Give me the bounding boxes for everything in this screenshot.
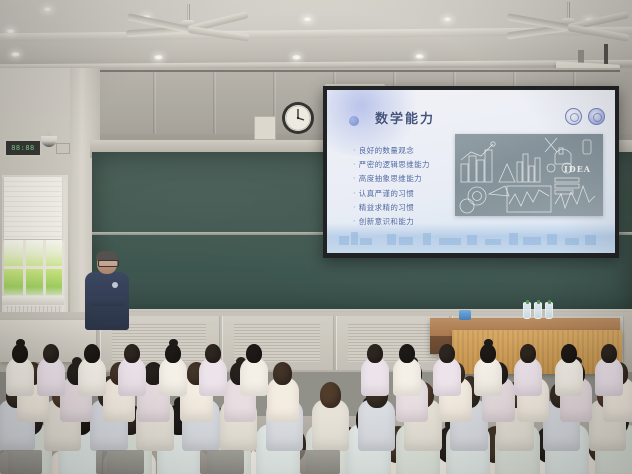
window-mullion [4,266,62,269]
water-bottle [523,302,531,319]
infographic-idea-text: IDEA [564,164,591,174]
presentation-slide: 数学能力 良好的数量观念严密的逻辑思维能力高度抽象思维能力认真严谨的习惯精益求精… [327,90,615,253]
seat-back [300,450,340,474]
digital-clock-display: 88:88 [4,139,42,157]
audience-member-head [84,344,100,363]
wall-junction-box [56,143,70,154]
audience-member [199,344,227,397]
window-blind [4,177,62,239]
audience-member [595,344,623,397]
ceiling-fan-left [118,4,258,44]
slide-bullet-item: 良好的数量观念 [353,145,458,156]
lecture-hall-photo: 88:88 数学能力 良好的数量观念严密的逻辑思维能力高度抽象思维能力 [0,0,632,474]
slide-bullet-item: 精益求精的习惯 [353,202,458,213]
wall-sign [254,116,276,140]
audience-member [393,344,421,397]
seat-back [96,450,144,474]
wall-panel [155,72,214,134]
audience-member [361,344,389,397]
audience-member-hair-bun [16,339,25,347]
university-emblem-left-icon [565,108,582,125]
audience-member [474,344,502,397]
water-bottle [545,302,553,319]
slide-skyline-graphic [327,223,615,253]
presenter-arms [87,296,127,306]
seat-back [0,450,42,474]
audience-member [78,344,106,397]
slide-bullet-item: 严密的逻辑思维能力 [353,159,458,170]
blue-object-on-desk [459,310,471,320]
audience-member-head [246,344,262,363]
infographic-doodles [455,134,603,216]
audience-member [118,344,146,397]
audience-member [514,344,542,397]
slide-logos [565,108,605,125]
recessed-downlight-icon [303,17,312,22]
audience-member [267,362,299,423]
seat-back [200,450,244,474]
audience-member [312,382,349,453]
audience-member-hair-bun [484,339,493,347]
slide-blackboard-infographic: IDEA [455,134,603,216]
fan-blade [567,24,629,42]
slide-accent-dot-icon [349,116,359,126]
ceiling-fan-right [498,2,632,42]
slide-bullet-item: 高度抽象思维能力 [353,173,458,184]
slide-bullet-list: 良好的数量观念严密的逻辑思维能力高度抽象思维能力认真严谨的习惯精益求精的习惯创新… [353,145,458,230]
fan-blade [188,26,250,42]
audience-seating [0,330,632,474]
audience-member [6,344,34,397]
audience-member-head [273,362,292,385]
audience-member [433,344,461,397]
audience-member [159,344,187,397]
audience-member [240,344,268,397]
audience-member [555,344,583,397]
university-emblem-right-icon [588,108,605,125]
audience-member-hair-bun [169,339,178,347]
audience-member-head [561,344,577,363]
recessed-downlight-icon [43,7,52,12]
presenter-badge [112,282,118,288]
audience-member [37,344,65,397]
presenter [84,252,130,336]
slide-title: 数学能力 [375,108,435,127]
slide-bullet-item: 认真严谨的习惯 [353,188,458,199]
audience-member-head [320,382,342,408]
digital-clock-value: 88:88 [11,144,35,152]
window-sill [2,296,64,305]
water-bottle [534,302,542,319]
recessed-downlight-icon [6,29,15,34]
wall-clock-icon [281,101,315,135]
audience-member-head [399,344,415,363]
presenter-glasses-icon [98,260,119,267]
wall-panel [95,72,154,134]
